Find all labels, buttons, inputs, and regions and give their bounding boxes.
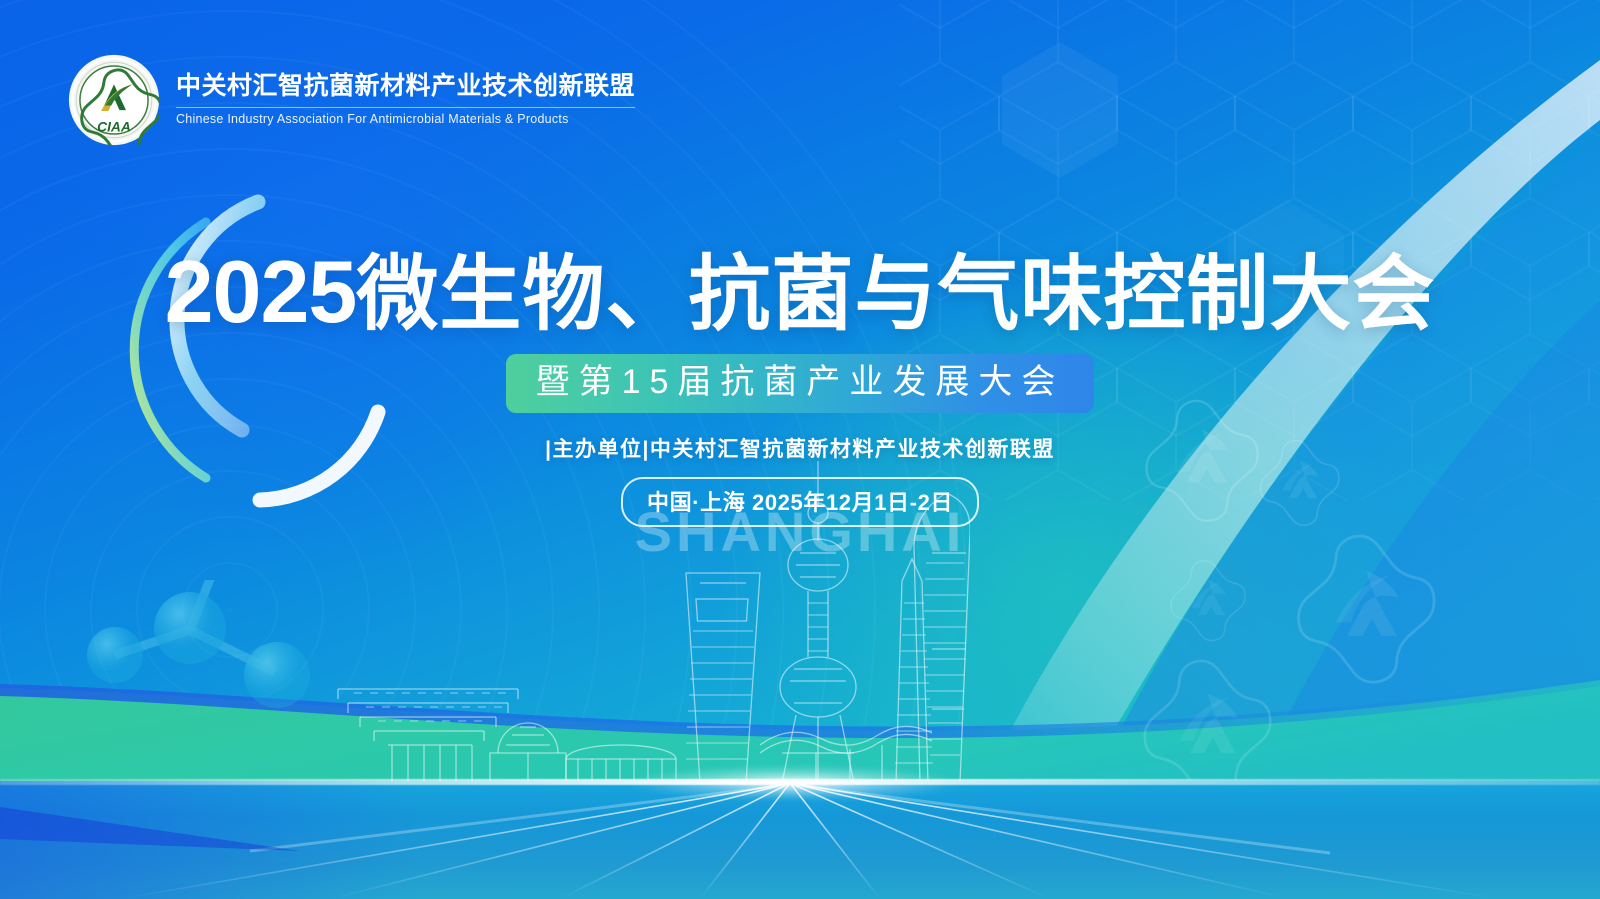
ciaa-logo-icon: CIAA (68, 54, 160, 146)
subtitle-banner: 暨第15届抗菌产业发展大会 (506, 354, 1095, 413)
association-header: CIAA 中关村汇智抗菌新材料产业技术创新联盟 Chinese Industry… (68, 54, 635, 146)
association-name-cn: 中关村汇智抗菌新材料产业技术创新联盟 (176, 73, 635, 101)
conference-banner: CIAA 中关村汇智抗菌新材料产业技术创新联盟 Chinese Industry… (0, 0, 1600, 899)
molecule-icon (70, 580, 370, 780)
svg-text:CIAA: CIAA (97, 119, 131, 134)
hero-title-block: 2025微生物、抗菌与气味控制大会 暨第15届抗菌产业发展大会 |主办单位|中关… (0, 248, 1600, 527)
event-year: 2025 (165, 242, 357, 341)
organizer-line: |主办单位|中关村汇智抗菌新材料产业技术创新联盟 (0, 433, 1600, 463)
association-name-en: Chinese Industry Association For Antimic… (176, 113, 635, 127)
date-location-badge: 中国·上海 2025年12月1日-2日 (621, 477, 979, 527)
horizon-glow (560, 727, 1080, 807)
page-title: 2025微生物、抗菌与气味控制大会 (165, 248, 1436, 336)
event-subtitle: 暨第15届抗菌产业发展大会 (536, 361, 1065, 404)
logo-divider (176, 107, 635, 108)
event-title-cn: 微生物、抗菌与气味控制大会 (356, 249, 1435, 340)
